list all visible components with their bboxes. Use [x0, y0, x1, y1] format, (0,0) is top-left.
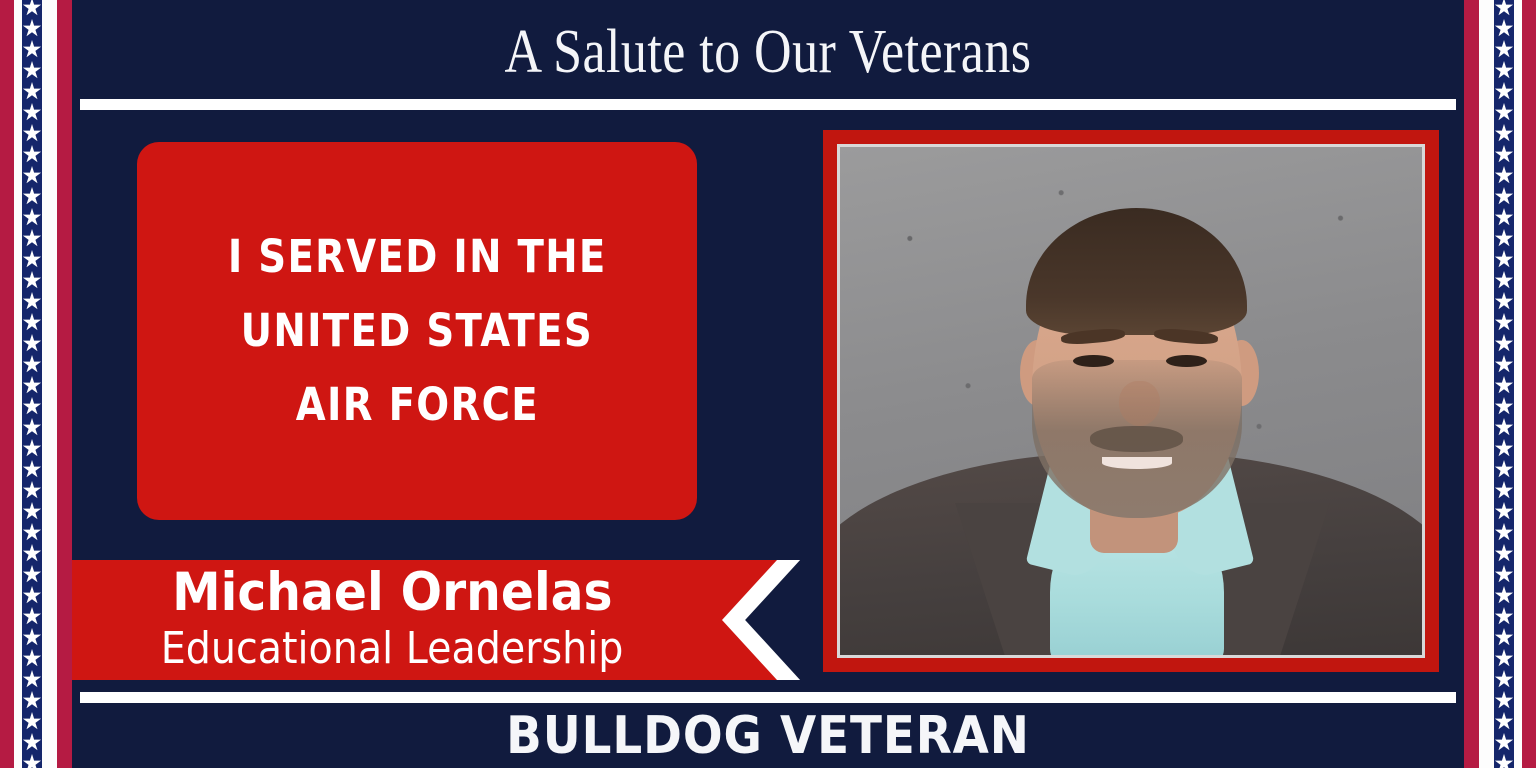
- star-icon: [23, 691, 42, 710]
- hair: [1026, 208, 1247, 335]
- star-icon: [23, 439, 42, 458]
- star-icon: [1495, 628, 1514, 647]
- star-icon: [1495, 481, 1514, 500]
- portrait-inner-border: [837, 144, 1425, 658]
- border-stripe-crimson: [1464, 0, 1479, 768]
- star-icon: [1495, 460, 1514, 479]
- star-icon: [1495, 544, 1514, 563]
- name-ribbon: Michael Ornelas Educational Leadership: [72, 560, 832, 680]
- border-stripe-white: [42, 0, 57, 768]
- star-icon: [1495, 313, 1514, 332]
- star-icon: [23, 418, 42, 437]
- border-stripe-white: [1479, 0, 1494, 768]
- star-icon: [23, 19, 42, 38]
- star-icon: [23, 271, 42, 290]
- star-icon: [23, 586, 42, 605]
- star-icon: [1495, 586, 1514, 605]
- service-line-3: AIR FORCE: [295, 368, 538, 442]
- star-icon: [23, 40, 42, 59]
- star-icon: [1495, 187, 1514, 206]
- border-stripe-white: [14, 0, 22, 768]
- star-icon: [23, 607, 42, 626]
- star-icon: [23, 292, 42, 311]
- star-icon: [23, 376, 42, 395]
- border-star-band: [1494, 0, 1514, 768]
- star-icon: [23, 754, 42, 768]
- star-icon: [1495, 40, 1514, 59]
- star-icon: [1495, 523, 1514, 542]
- star-icon: [23, 145, 42, 164]
- border-stripe-white: [1514, 0, 1522, 768]
- star-icon: [23, 565, 42, 584]
- veteran-program: Educational Leadership: [161, 622, 624, 676]
- star-icon: [23, 82, 42, 101]
- star-icon: [23, 523, 42, 542]
- star-icon: [23, 481, 42, 500]
- mustache: [1090, 426, 1183, 451]
- star-icon: [23, 124, 42, 143]
- star-icon: [1495, 691, 1514, 710]
- star-icon: [1495, 292, 1514, 311]
- star-icon: [1495, 712, 1514, 731]
- star-icon: [1495, 19, 1514, 38]
- star-icon: [23, 670, 42, 689]
- footer-label: BULLDOG VETERAN: [142, 705, 1395, 767]
- star-icon: [23, 628, 42, 647]
- star-icon: [23, 733, 42, 752]
- star-icon: [1495, 439, 1514, 458]
- ribbon-text-group: Michael Ornelas Educational Leadership: [72, 560, 712, 680]
- divider-top: [80, 99, 1456, 110]
- star-icon: [23, 544, 42, 563]
- star-icon: [1495, 61, 1514, 80]
- star-icon: [1495, 82, 1514, 101]
- star-icon: [1495, 649, 1514, 668]
- flag-border-left: [0, 0, 72, 768]
- border-stripe-crimson: [57, 0, 72, 768]
- star-icon: [23, 313, 42, 332]
- star-icon: [23, 502, 42, 521]
- star-icon: [1495, 145, 1514, 164]
- poster-canvas: A Salute to Our Veterans I SERVED IN THE…: [72, 0, 1464, 768]
- portrait-photo: [840, 147, 1422, 655]
- star-icon: [23, 355, 42, 374]
- veteran-name: Michael Ornelas: [172, 564, 612, 622]
- star-icon: [1495, 397, 1514, 416]
- star-icon: [23, 166, 42, 185]
- star-icon: [1495, 271, 1514, 290]
- star-icon: [1495, 166, 1514, 185]
- star-icon: [1495, 376, 1514, 395]
- star-icon: [1495, 124, 1514, 143]
- veteran-salute-poster: A Salute to Our Veterans I SERVED IN THE…: [0, 0, 1536, 768]
- star-icon: [1495, 670, 1514, 689]
- star-icon: [1495, 250, 1514, 269]
- star-icon: [23, 649, 42, 668]
- border-stripe-crimson: [0, 0, 14, 768]
- star-icon: [1495, 208, 1514, 227]
- divider-bottom: [80, 692, 1456, 703]
- service-line-2: UNITED STATES: [241, 294, 593, 368]
- portrait-frame: [823, 130, 1439, 672]
- border-stripe-crimson: [1522, 0, 1536, 768]
- star-icon: [23, 460, 42, 479]
- star-icon: [23, 334, 42, 353]
- star-icon: [23, 208, 42, 227]
- star-icon: [1495, 418, 1514, 437]
- star-icon: [23, 187, 42, 206]
- star-icon: [1495, 754, 1514, 768]
- star-icon: [1495, 103, 1514, 122]
- flag-border-right: [1464, 0, 1536, 768]
- star-icon: [23, 250, 42, 269]
- star-icon: [23, 103, 42, 122]
- service-branch-card: I SERVED IN THE UNITED STATES AIR FORCE: [137, 142, 697, 520]
- page-title: A Salute to Our Veterans: [183, 14, 1352, 90]
- mouth: [1102, 457, 1172, 469]
- star-icon: [1495, 0, 1514, 17]
- service-line-1: I SERVED IN THE: [228, 220, 607, 294]
- star-icon: [23, 61, 42, 80]
- border-star-band: [22, 0, 42, 768]
- star-icon: [23, 397, 42, 416]
- star-icon: [1495, 229, 1514, 248]
- star-icon: [23, 0, 42, 17]
- star-icon: [1495, 502, 1514, 521]
- star-icon: [1495, 607, 1514, 626]
- star-icon: [1495, 733, 1514, 752]
- star-icon: [23, 229, 42, 248]
- star-icon: [1495, 565, 1514, 584]
- star-icon: [1495, 355, 1514, 374]
- star-icon: [23, 712, 42, 731]
- star-icon: [1495, 334, 1514, 353]
